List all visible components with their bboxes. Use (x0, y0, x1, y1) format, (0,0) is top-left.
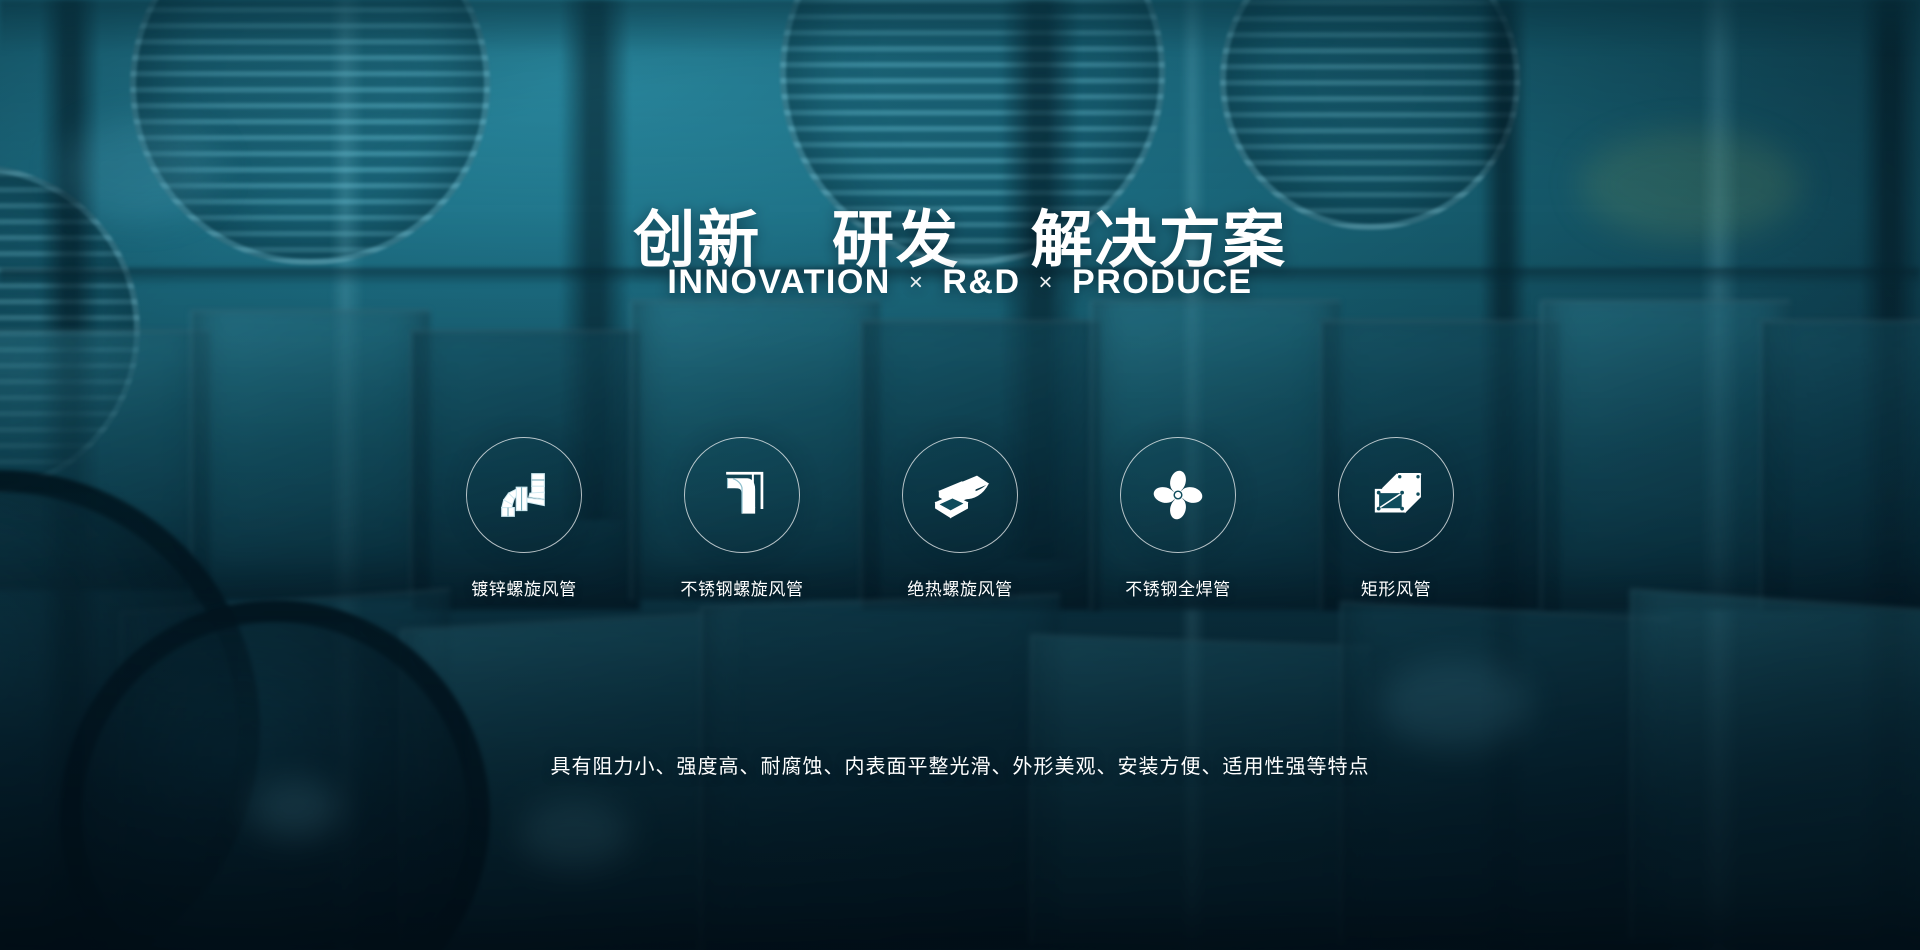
product-icon-circle[interactable] (1338, 437, 1454, 553)
product-icon-circle[interactable] (466, 437, 582, 553)
banner-stage: 创新 研发 解决方案 INNOVATION×R&D×PRODUCE (0, 0, 1920, 950)
page-subtitle: INNOVATION×R&D×PRODUCE (0, 263, 1920, 302)
product-icon-row: 镀锌螺旋风管 (466, 437, 1454, 600)
product-icon-circle[interactable] (902, 437, 1018, 553)
product-item-stainless-welded-pipe[interactable]: 不锈钢全焊管 (1120, 437, 1236, 600)
subtitle-word-produce: PRODUCE (1068, 263, 1257, 301)
product-item-galvanized-spiral-duct[interactable]: 镀锌螺旋风管 (466, 437, 582, 600)
spiral-duct-bend-icon (493, 464, 555, 526)
subtitle-separator-icon: × (1025, 269, 1069, 296)
product-item-rectangular-duct[interactable]: 矩形风管 (1338, 437, 1454, 600)
subtitle-word-rd: R&D (938, 263, 1024, 301)
product-label: 镀锌螺旋风管 (471, 575, 577, 600)
product-label: 绝热螺旋风管 (907, 575, 1013, 600)
duct-elbow-icon (713, 466, 771, 524)
banner-tagline: 具有阻力小、强度高、耐腐蚀、内表面平整光滑、外形美观、安装方便、适用性强等特点 (0, 750, 1920, 779)
product-icon-circle[interactable] (684, 437, 800, 553)
product-label: 不锈钢螺旋风管 (680, 575, 803, 600)
product-item-stainless-spiral-duct[interactable]: 不锈钢螺旋风管 (684, 437, 800, 600)
product-label: 不锈钢全焊管 (1125, 575, 1231, 600)
subtitle-separator-icon: × (895, 269, 939, 296)
product-label: 矩形风管 (1361, 575, 1431, 600)
product-icon-circle[interactable] (1120, 437, 1236, 553)
fan-blade-icon (1149, 466, 1207, 524)
product-item-insulated-spiral-duct[interactable]: 绝热螺旋风管 (902, 437, 1018, 600)
rectangular-duct-icon (1366, 465, 1426, 525)
subtitle-word-innovation: INNOVATION (663, 263, 894, 301)
insulated-duct-icon (928, 465, 992, 525)
banner-content: 创新 研发 解决方案 INNOVATION×R&D×PRODUCE (0, 0, 1920, 950)
